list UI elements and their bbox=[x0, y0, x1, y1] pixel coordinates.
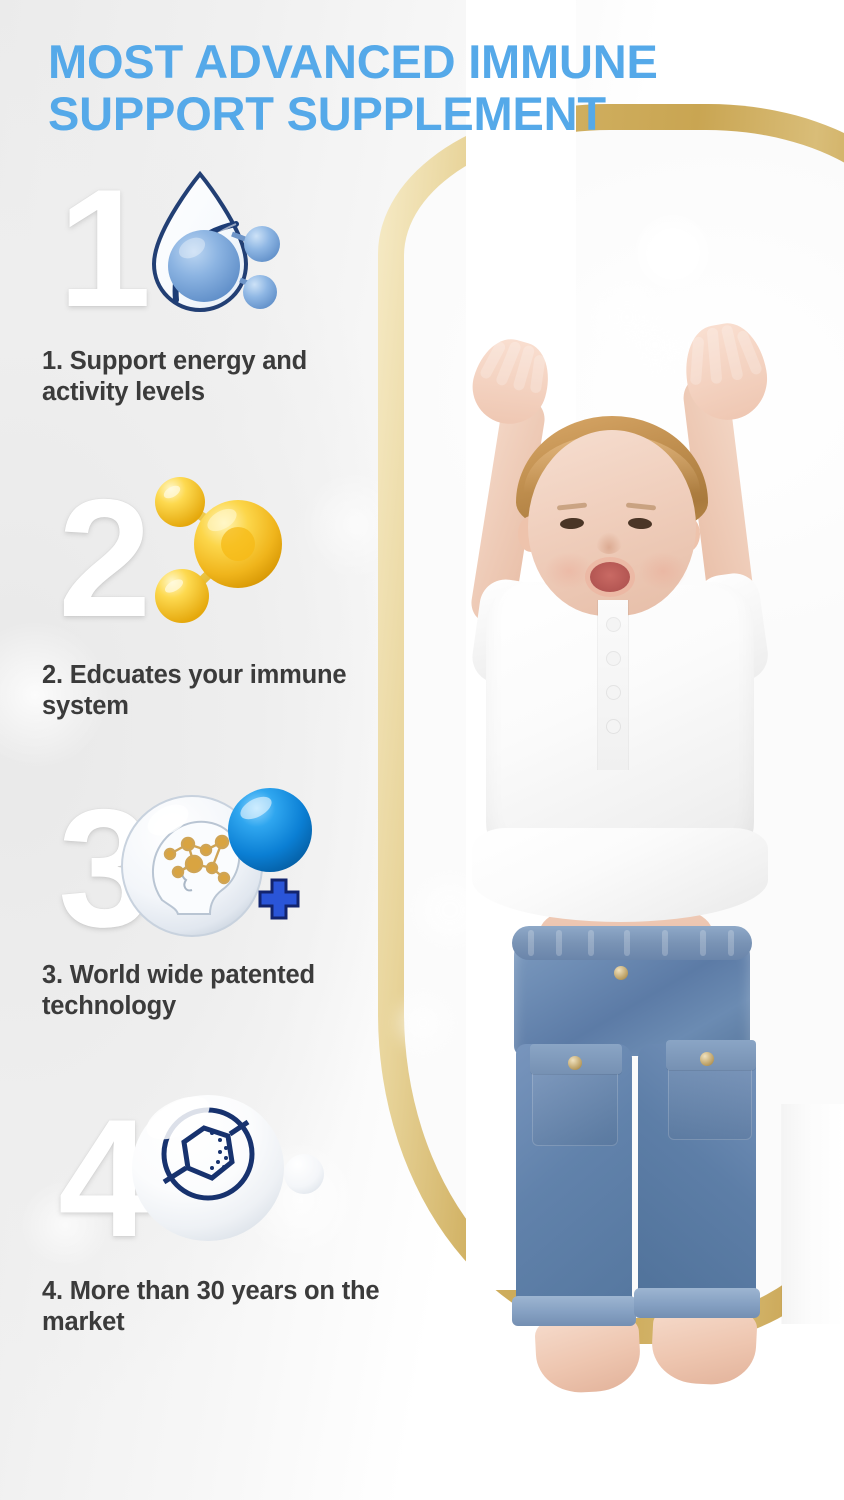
feature-list: 1 bbox=[0, 150, 392, 1390]
light-flare bbox=[640, 220, 706, 286]
jeans-button bbox=[614, 966, 628, 980]
gold-molecule-icon bbox=[128, 474, 298, 649]
title-line-1: MOST ADVANCED IMMUNE bbox=[48, 35, 658, 88]
pocket-button bbox=[568, 1056, 582, 1070]
pearl-hexagon-emblem-icon bbox=[118, 1088, 328, 1258]
feature-text-1: 1. Support energy and activity levels bbox=[42, 346, 382, 407]
right-cheek bbox=[638, 552, 688, 590]
left-cuff bbox=[512, 1296, 636, 1326]
promo-page: MOST ADVANCED IMMUNE SUPPORT SUPPLEMENT … bbox=[0, 0, 844, 1500]
shirt-button bbox=[607, 652, 620, 665]
shirt-button bbox=[607, 720, 620, 733]
feature-text-4: 4. More than 30 years on the market bbox=[42, 1276, 382, 1337]
elastic-waistband bbox=[512, 926, 752, 960]
pursed-mouth bbox=[590, 562, 630, 592]
pocket-button bbox=[700, 1052, 714, 1066]
left-cheek bbox=[544, 552, 594, 590]
nose bbox=[596, 532, 622, 554]
feature-item-3: 3 bbox=[0, 770, 392, 1080]
plus-icon bbox=[260, 880, 298, 918]
title-line-2: SUPPORT SUPPLEMENT bbox=[48, 88, 788, 140]
blouse-hem bbox=[472, 828, 768, 922]
feature-item-2: 2 bbox=[0, 460, 392, 770]
brain-molecule-sphere-icon bbox=[118, 780, 318, 955]
feature-text-2: 2. Edcuates your immune system bbox=[42, 660, 382, 721]
shirt-button bbox=[607, 686, 620, 699]
shirt-button bbox=[607, 618, 620, 631]
feature-item-4: 4 bbox=[0, 1080, 392, 1390]
toddler-arms-raised-photo bbox=[400, 330, 844, 1500]
feature-item-1: 1 bbox=[0, 150, 392, 460]
page-title: MOST ADVANCED IMMUNE SUPPORT SUPPLEMENT bbox=[48, 36, 788, 140]
water-droplet-molecule-icon bbox=[132, 168, 292, 333]
feature-text-3: 3. World wide patented technology bbox=[42, 960, 382, 1021]
right-cuff bbox=[634, 1288, 760, 1318]
